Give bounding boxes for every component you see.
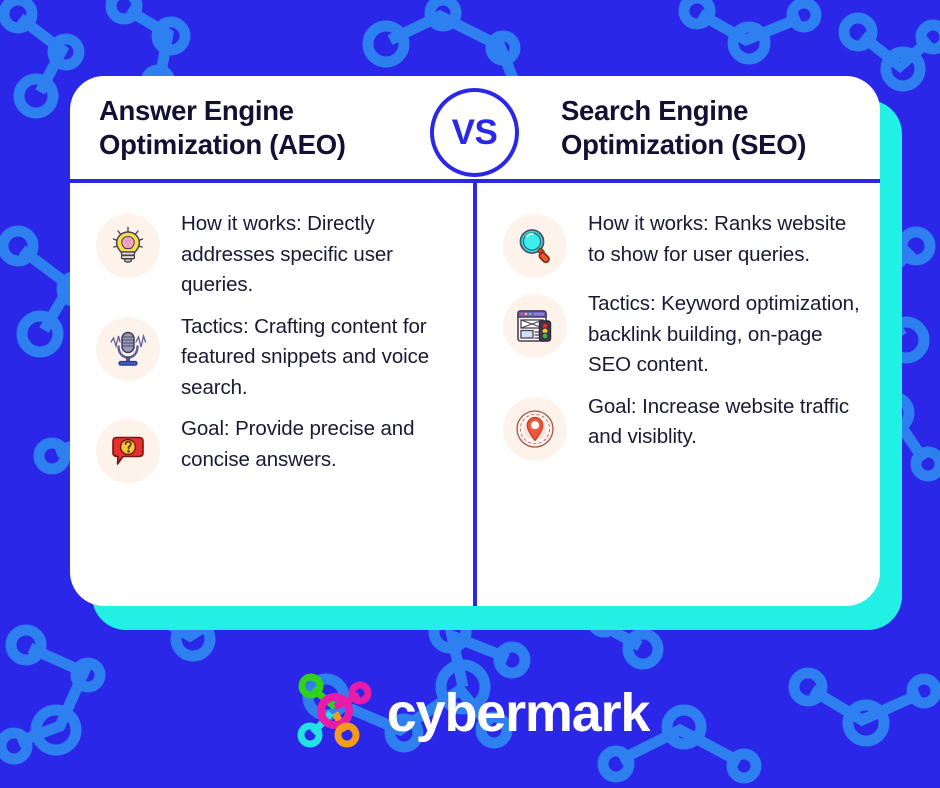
- speech-bubble-question-icon: [96, 419, 160, 483]
- cybermark-logo-mark: [291, 673, 379, 753]
- microphone-icon: [96, 317, 160, 381]
- list-item: Goal: Provide precise and concise answer…: [96, 414, 453, 483]
- title-line-2: Optimization (SEO): [561, 129, 806, 160]
- column-aeo: How it works: Directly addresses specifi…: [70, 183, 475, 606]
- header-column-aeo: Answer Engine Optimization (AEO): [70, 76, 475, 179]
- browser-traffic-light-icon: [503, 294, 567, 358]
- magnifying-glass-icon: [503, 214, 567, 278]
- title-line-2: Optimization (AEO): [99, 129, 346, 160]
- comparison-columns: How it works: Directly addresses specifi…: [70, 183, 880, 606]
- list-item: How it works: Ranks website to show for …: [503, 209, 866, 278]
- list-item: How it works: Directly addresses specifi…: [96, 209, 453, 301]
- page-title-aeo: Answer Engine Optimization (AEO): [99, 94, 346, 161]
- logo-wordmark: cybermark: [387, 686, 649, 740]
- column-seo: How it works: Ranks website to show for …: [475, 183, 880, 606]
- list-item-text: Tactics: Crafting content for featured s…: [181, 312, 453, 404]
- list-item-text: Goal: Provide precise and concise answer…: [181, 414, 453, 475]
- vs-label: VS: [452, 113, 498, 153]
- list-item-text: How it works: Ranks website to show for …: [588, 209, 866, 270]
- lightbulb-brain-icon: [96, 214, 160, 278]
- header-column-seo: Search Engine Optimization (SEO): [475, 76, 880, 179]
- list-item-text: How it works: Directly addresses specifi…: [181, 209, 453, 301]
- page-title-seo: Search Engine Optimization (SEO): [561, 94, 806, 161]
- brand-logo: cybermark: [0, 665, 940, 760]
- list-item-text: Tactics: Keyword optimization, backlink …: [588, 289, 866, 381]
- title-line-1: Answer Engine: [99, 95, 294, 126]
- title-line-1: Search Engine: [561, 95, 748, 126]
- list-item: Tactics: Crafting content for featured s…: [96, 312, 453, 404]
- list-item: Tactics: Keyword optimization, backlink …: [503, 289, 866, 381]
- location-pin-icon: [503, 397, 567, 461]
- vs-badge: VS: [430, 88, 519, 177]
- list-item: Goal: Increase website traffic and visib…: [503, 392, 866, 461]
- list-item-text: Goal: Increase website traffic and visib…: [588, 392, 866, 453]
